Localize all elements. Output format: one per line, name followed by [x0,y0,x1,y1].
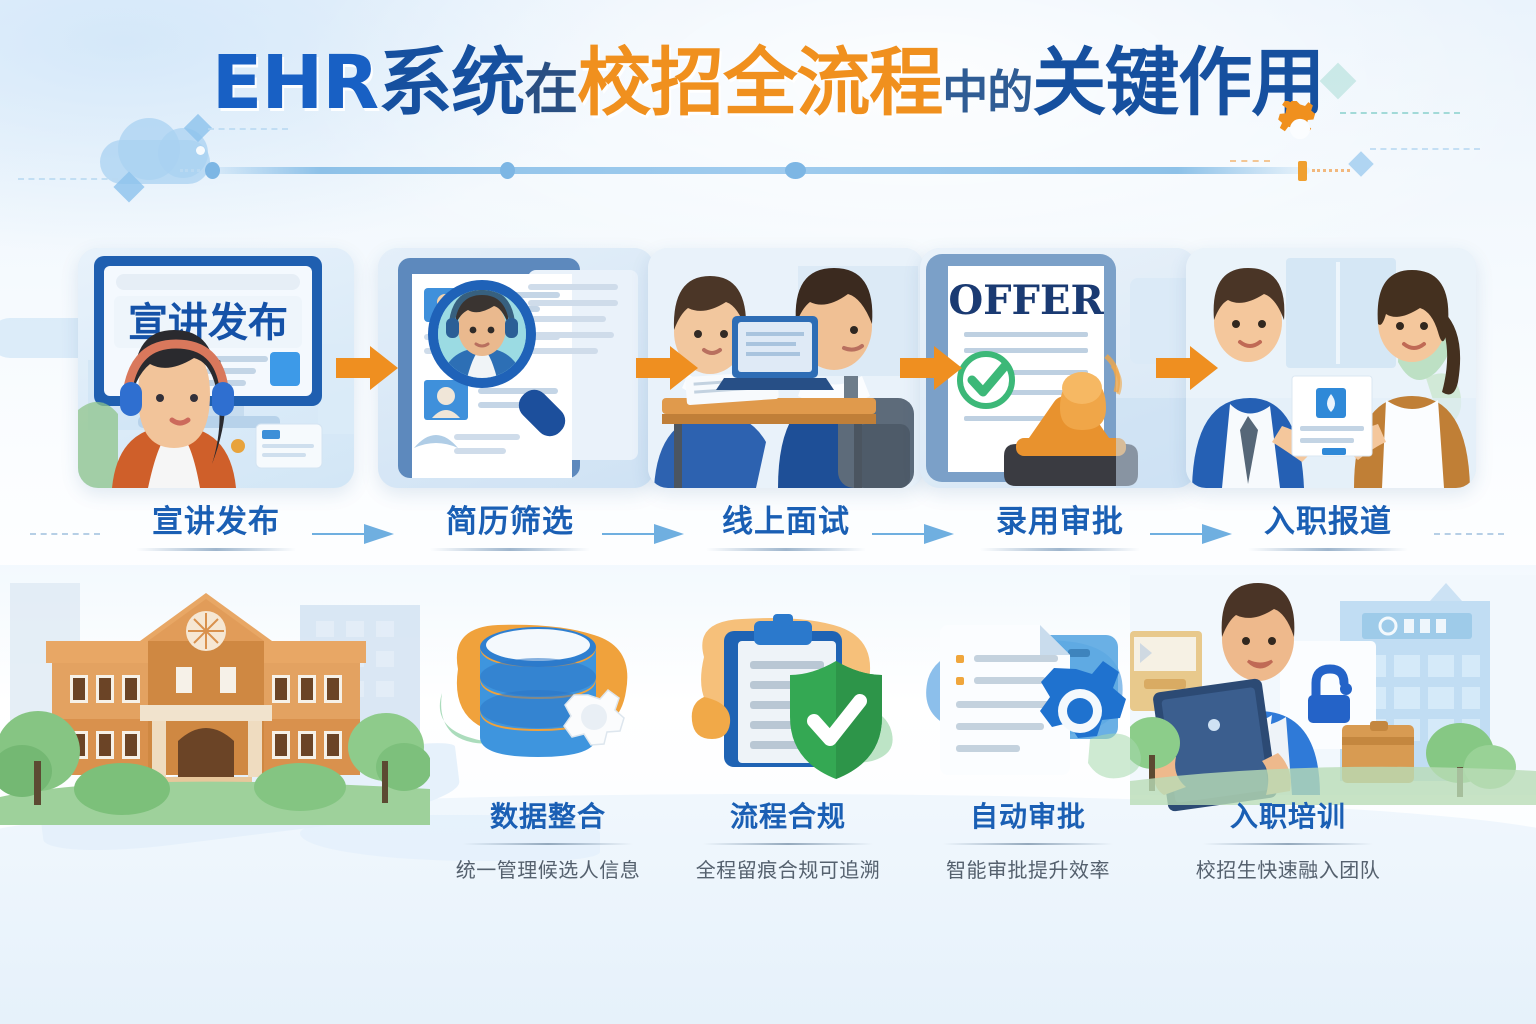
step-label-text: 线上面试 [686,505,886,539]
feature-title: 自动审批 [908,795,1148,835]
dotted-line [1370,148,1480,150]
flow-step-label-5[interactable]: 入职报道 [1228,505,1428,551]
offer-document-title: OFFER [948,277,1104,324]
step-label-text: 简历筛选 [410,505,610,539]
arrow-right-icon [1156,344,1218,392]
database-icon [480,627,596,757]
arrow-right-icon [1150,521,1236,547]
document-gear-icon [908,605,1148,795]
magnifier-resume-icon [378,248,654,488]
feature-subtitle: 全程留痕合规可追溯 [668,854,908,883]
feature-card-onboarding-training[interactable]: 入职培训 校招生快速融入团队 [1168,605,1408,883]
flow-step-label-2[interactable]: 简历筛选 [410,505,610,551]
arrow-right-icon [900,344,962,392]
step-label-text: 入职报道 [1228,505,1428,539]
feature-divider [1203,843,1373,845]
label-underline [980,548,1140,551]
arrow-right-icon [336,344,398,392]
feature-card-compliance[interactable]: 流程合规 全程留痕合规可追溯 [668,605,908,883]
feature-subtitle: 智能审批提升效率 [908,854,1148,883]
title-segment-campus-flow: 校招全流程 [577,40,942,126]
database-gear-icon [428,605,668,795]
gear-icon [1272,101,1328,157]
feature-subtitle: 校招生快速融入团队 [1168,854,1408,883]
title-segment-of: 中的 [942,65,1032,119]
feature-cards: 数据整合 统一管理候选人信息 [0,605,1536,935]
flow-panels: 宣讲发布 [0,248,1536,498]
step-label-text: 宣讲发布 [116,505,316,539]
title-segment-system: 系统 [378,40,524,126]
step-label-text: 录用审批 [960,505,1160,539]
diamond-icon [1348,151,1373,176]
header-timeline [180,162,1350,178]
feature-subtitle: 统一管理候选人信息 [428,854,668,883]
feature-card-auto-approval[interactable]: 自动审批 智能审批提升效率 [908,605,1148,883]
flow-step-label-4[interactable]: 录用审批 [960,505,1160,551]
title-segment-at: 在 [524,58,577,121]
handover-document-icon [1186,248,1476,488]
clipboard-shield-icon [668,605,908,795]
arrow-right-icon [872,521,958,547]
flow-step-label-1[interactable]: 宣讲发布 [116,505,316,551]
laptop-icon [716,316,834,390]
flow-panel-onboarding[interactable] [1186,248,1476,488]
flow-panel-resume-screening[interactable] [378,248,654,488]
dotted-line [208,128,288,130]
feature-title: 流程合规 [668,795,908,835]
monitor-headset-icon: 宣讲发布 [78,248,354,488]
feature-divider [943,843,1113,845]
label-underline [1248,548,1408,551]
feature-title: 入职培训 [1168,795,1408,835]
label-underline [430,548,590,551]
feature-title: 数据整合 [428,795,668,835]
arrow-right-icon [636,344,698,392]
offer-letter [1292,376,1372,456]
flow-step-label-3[interactable]: 线上面试 [686,505,886,551]
arrow-right-icon [602,521,688,547]
feature-card-data-integration[interactable]: 数据整合 统一管理候选人信息 [428,605,668,883]
feature-divider [463,843,633,845]
gear-icon [564,690,624,745]
flow-step-labels: 宣讲发布 简历筛选 线上面试 录用审批 入职报道 [0,505,1536,565]
label-underline [136,548,296,551]
label-underline [706,548,866,551]
dotted-line [18,178,118,180]
dotted-line [1434,533,1504,535]
flow-panel-broadcast[interactable]: 宣讲发布 [78,248,354,488]
dotted-line [30,533,100,535]
feature-divider [703,843,873,845]
arrow-right-icon [312,521,398,547]
title-segment-ehr: EHR [212,40,378,126]
